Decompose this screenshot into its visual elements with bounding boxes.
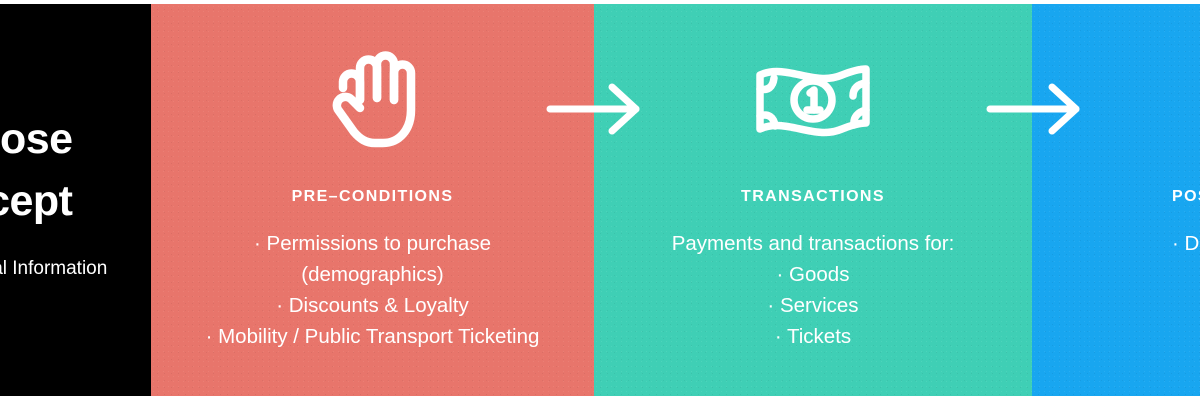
- list-item: · Goods: [672, 259, 955, 290]
- intro-panel: Purpose Concept Personal Information: [0, 4, 151, 396]
- page-title-line-1: Purpose: [0, 108, 55, 170]
- list-item: · Discounts & Loyalty: [206, 290, 540, 321]
- pre-conditions-panel: PRE–CONDITIONS · Permissions to purchase…: [151, 4, 594, 396]
- transactions-lines: Payments and transactions for: · Goods ·…: [672, 228, 955, 352]
- list-item: Payments and transactions for:: [672, 228, 955, 259]
- banknote-icon: [754, 48, 872, 152]
- page-subtitle: Personal Information: [0, 256, 83, 282]
- list-item: · Services: [672, 290, 955, 321]
- post-conditions-heading: POST–CONDITIONS: [1172, 188, 1200, 206]
- pre-conditions-lines: · Permissions to purchase (demographics)…: [206, 228, 540, 352]
- content-band: Purpose Concept Personal Information PRE…: [0, 4, 1200, 396]
- raised-hand-icon: [321, 48, 425, 152]
- slide-canvas: Purpose Concept Personal Information PRE…: [0, 0, 1200, 406]
- list-item: (demographics): [206, 259, 540, 290]
- transactions-panel: TRANSACTIONS Payments and transactions f…: [594, 4, 1032, 396]
- list-item: · Tickets: [672, 321, 955, 352]
- post-conditions-panel: POST–CONDITIONS · Data: [1032, 4, 1200, 396]
- list-item: · Permissions to purchase: [206, 228, 540, 259]
- post-conditions-lines: · Data: [1172, 228, 1200, 259]
- list-item: · Data: [1172, 228, 1200, 259]
- list-item: · Mobility / Public Transport Ticketing: [206, 321, 540, 352]
- arrow-right-icon: [546, 81, 644, 137]
- arrow-right-icon: [986, 81, 1084, 137]
- pre-conditions-heading: PRE–CONDITIONS: [292, 188, 454, 206]
- transactions-heading: TRANSACTIONS: [741, 188, 885, 206]
- page-title-line-2: Concept: [0, 170, 55, 232]
